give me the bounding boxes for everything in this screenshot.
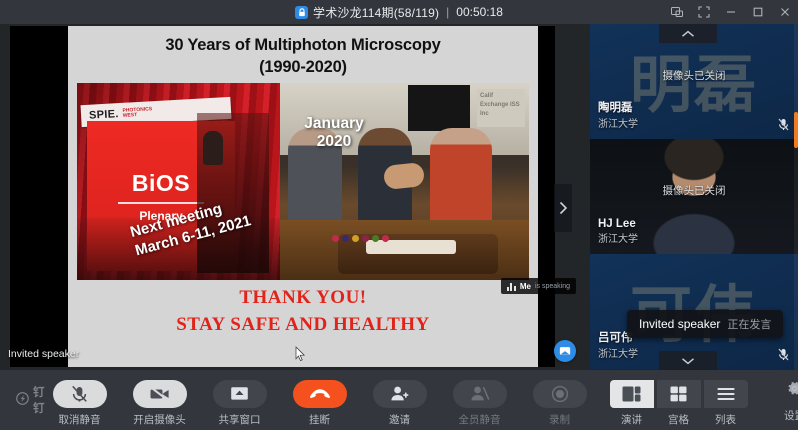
- tooltip-speaking-status: 正在发言: [727, 316, 771, 332]
- record-button[interactable]: 录制: [525, 380, 595, 427]
- enable-camera-button[interactable]: 开启摄像头: [125, 380, 195, 427]
- share-window-button[interactable]: 共享窗口: [205, 380, 275, 427]
- view-list-button[interactable]: 列表: [703, 380, 749, 427]
- close-button[interactable]: [771, 0, 798, 24]
- overlay-year: 2020: [289, 133, 379, 151]
- record-icon: [533, 380, 587, 408]
- photo-sign: Calif Exchange ISS Inc: [477, 89, 525, 127]
- bios-label: BiOS: [132, 170, 190, 197]
- picture-in-picture-button[interactable]: [663, 0, 690, 24]
- list-view-icon: [704, 380, 748, 408]
- mute-all-icon: [453, 380, 507, 408]
- camera-off-notice: 摄像头已关闭: [590, 183, 798, 198]
- slide-thank-you-text: THANK YOU! STAY SAFE AND HEALTHY: [68, 284, 538, 338]
- spie-wordmark: SPIE.: [89, 108, 119, 122]
- view-speaker-label: 演讲: [621, 412, 642, 427]
- photo-joined-hands: [383, 162, 425, 190]
- participant-name: HJ Lee: [598, 218, 636, 230]
- self-audio-label: Me: [520, 282, 531, 291]
- gear-icon: [786, 380, 798, 402]
- participant-org: 浙江大学: [598, 230, 638, 245]
- mic-muted-icon: [776, 347, 790, 361]
- hangup-button[interactable]: 挂断: [285, 380, 355, 427]
- participant-name: 陶明磊: [598, 99, 633, 115]
- photo-bios-banner: SPIE. PHOTONICSWEST BiOS Plenary: [77, 83, 280, 280]
- participant-org: 浙江大学: [598, 115, 638, 130]
- share-screen-icon: [213, 380, 267, 408]
- photonics-west-label: PHOTONICSWEST: [122, 107, 152, 120]
- meeting-elapsed-time: 00:50:18: [456, 5, 503, 19]
- settings-button[interactable]: 设置: [763, 380, 798, 423]
- meeting-title-group: 学术沙龙114期(58/119) | 00:50:18: [295, 4, 503, 21]
- slide-overlay-january: January 2020: [289, 115, 379, 151]
- next-slide-arrow[interactable]: [554, 184, 572, 232]
- thanks-line1: THANK YOU!: [68, 284, 538, 311]
- dingtalk-meeting-window: 学术沙龙114期(58/119) | 00:50:18: [0, 0, 798, 430]
- meeting-title: 学术沙龙114期(58/119): [313, 4, 439, 21]
- mouse-cursor-icon: [295, 346, 306, 366]
- view-speaker-button[interactable]: 演讲: [609, 380, 655, 427]
- overlay-month: January: [289, 115, 379, 133]
- photo-berries: [332, 235, 389, 242]
- add-person-icon: [373, 380, 427, 408]
- speaking-tooltip: Invited speaker 正在发言: [627, 310, 783, 338]
- audio-bars-icon: [507, 282, 516, 291]
- shared-content-frame: 30 Years of Multiphoton Microscopy (1990…: [10, 26, 555, 367]
- self-audio-status: is speaking: [535, 283, 570, 290]
- view-grid-label: 宫格: [668, 412, 689, 427]
- photo-screen: [408, 85, 470, 131]
- meeting-toolbar: 钉钉 取消静音 开启摄像头 共享窗口: [0, 370, 798, 430]
- invited-speaker-caption: Invited speaker: [8, 348, 79, 360]
- camera-off-icon: [133, 380, 187, 408]
- invite-button[interactable]: 邀请: [365, 380, 435, 427]
- slide-title-line2: (1990-2020): [68, 56, 538, 78]
- invite-label: 邀请: [389, 412, 410, 427]
- fullscreen-button[interactable]: [690, 0, 717, 24]
- shared-screen-stage[interactable]: 30 Years of Multiphoton Microscopy (1990…: [0, 24, 590, 370]
- dingtalk-icon: [16, 392, 29, 408]
- toolbar-actions: 取消静音 开启摄像头 共享窗口 挂断: [45, 374, 798, 427]
- settings-label: 设置: [784, 408, 798, 423]
- mic-muted-icon: [53, 380, 107, 408]
- mute-all-label: 全员静音: [459, 412, 501, 427]
- view-mode-group: 演讲 宫格 列表: [609, 380, 749, 427]
- rail-scrollbar[interactable]: [794, 24, 798, 370]
- maximize-button[interactable]: [744, 0, 771, 24]
- hangup-label: 挂断: [309, 412, 330, 427]
- mute-all-button[interactable]: 全员静音: [445, 380, 515, 427]
- rail-scrollbar-thumb[interactable]: [794, 112, 798, 148]
- grid-view-icon: [657, 380, 701, 408]
- speaker-view-icon: [610, 380, 654, 408]
- slide-title: 30 Years of Multiphoton Microscopy (1990…: [68, 34, 538, 78]
- dingtalk-brand: 钉钉: [0, 384, 45, 416]
- thanks-line2: STAY SAFE AND HEALTHY: [68, 311, 538, 338]
- minimize-button[interactable]: [717, 0, 744, 24]
- chat-button[interactable]: [554, 340, 576, 362]
- bios-divider: [118, 202, 204, 204]
- slide-photo-collage: SPIE. PHOTONICSWEST BiOS Plenary: [77, 83, 529, 280]
- speaker-figure: [203, 131, 223, 165]
- view-list-label: 列表: [715, 412, 736, 427]
- tooltip-speaker-name: Invited speaker: [639, 317, 720, 331]
- participant-rail[interactable]: 明磊 摄像头已关闭 陶明磊 浙江大学 摄像头已关闭 HJ Lee 浙江大学 可伟…: [590, 24, 798, 370]
- view-grid-button[interactable]: 宫格: [656, 380, 702, 427]
- presentation-slide: 30 Years of Multiphoton Microscopy (1990…: [68, 26, 538, 367]
- enable-camera-label: 开启摄像头: [133, 412, 186, 427]
- mic-muted-icon: [776, 117, 790, 131]
- camera-off-notice: 摄像头已关闭: [590, 68, 798, 83]
- window-controls: [663, 0, 798, 24]
- unmute-button[interactable]: 取消静音: [45, 380, 115, 427]
- record-label: 录制: [549, 412, 570, 427]
- participant-tile[interactable]: 摄像头已关闭 HJ Lee 浙江大学: [590, 139, 798, 254]
- share-window-label: 共享窗口: [219, 412, 261, 427]
- self-audio-indicator: Me is speaking: [501, 278, 576, 294]
- rail-scroll-up-button[interactable]: [659, 24, 717, 43]
- slide-title-line1: 30 Years of Multiphoton Microscopy: [68, 34, 538, 56]
- hangup-icon: [293, 380, 347, 408]
- title-bar: 学术沙龙114期(58/119) | 00:50:18: [0, 0, 798, 24]
- title-separator: |: [444, 5, 451, 19]
- unmute-label: 取消静音: [59, 412, 101, 427]
- dingtalk-brand-label: 钉钉: [33, 384, 45, 416]
- photo-person-3: [430, 128, 492, 224]
- lock-icon: [295, 6, 308, 19]
- participant-org: 浙江大学: [598, 345, 638, 360]
- rail-scroll-down-button[interactable]: [659, 351, 717, 370]
